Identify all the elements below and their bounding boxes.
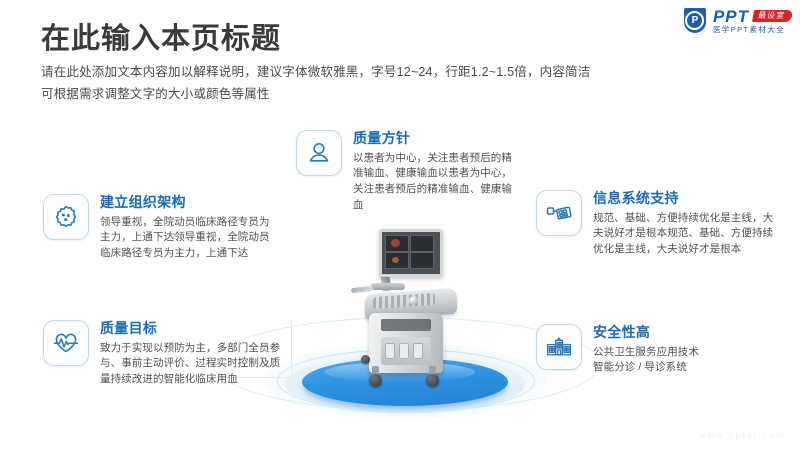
machine-wheel xyxy=(426,374,439,387)
card-text: 领导重视，全院动员临床路径专员为主力，上通下达领导重视，全院动员临床路径专员为主… xyxy=(100,215,275,262)
card-body: 建立组织架构 领导重视，全院动员临床路径专员为主力，上通下达领导重视，全院动员临… xyxy=(100,194,275,262)
machine-slot xyxy=(381,319,431,331)
scan-image-2 xyxy=(410,235,434,252)
card-body: 质量目标 致力于实现以预防为主，多部门全员参与、事前主动评价、过程实时控制及质量… xyxy=(100,320,282,388)
monitor-arm-joint xyxy=(371,283,405,290)
brand-logo: P PPT 最设室 医学PPT素材大全 xyxy=(682,6,792,35)
gear-cells-icon xyxy=(43,194,89,240)
card-title: 建立组织架构 xyxy=(100,194,275,212)
shield-icon: P xyxy=(682,6,708,35)
card-text: 规范、基础、方便持续优化是主线，大夫说好才是根本规范、基础、方便持续优化是主线，… xyxy=(593,211,783,258)
scan-image-4 xyxy=(410,252,434,269)
logo-text-group: PPT 最设室 医学PPT素材大全 xyxy=(713,8,792,34)
page-title: 在此输入本页标题 xyxy=(41,22,281,57)
scan-image-3 xyxy=(385,252,409,269)
logo-badge: 最设室 xyxy=(752,10,793,22)
machine-button xyxy=(399,343,409,359)
monitor-screen xyxy=(379,229,443,277)
shield-letter: P xyxy=(685,11,704,30)
machine-button xyxy=(385,343,395,359)
hospital-building-icon xyxy=(536,324,582,370)
machine-handle xyxy=(351,286,373,293)
ultrasound-machine-icon xyxy=(347,227,467,392)
subtitle-line-2: 可根据需求调整文字的大小或颜色等属性 xyxy=(41,84,681,106)
feature-card-quality-policy[interactable]: 质量方针 以患者为中心，关注患者预后的精准输血、健康输血以患者为中心，关注患者预… xyxy=(296,130,521,214)
machine-wheel xyxy=(369,374,382,387)
logo-primary-row: PPT 最设室 xyxy=(713,8,792,25)
scan-blob xyxy=(392,257,399,263)
person-icon xyxy=(296,130,342,176)
slide-canvas: P PPT 最设室 医学PPT素材大全 在此输入本页标题 请在此处添加文本内容加… xyxy=(0,0,800,450)
card-title: 质量目标 xyxy=(100,320,282,338)
feature-card-information-system[interactable]: 信息系统支持 规范、基础、方便持续优化是主线，大夫说好才是根本规范、基础、方便持… xyxy=(536,190,786,258)
logo-tagline: 医学PPT素材大全 xyxy=(713,26,792,34)
scan-blob xyxy=(391,239,400,247)
card-text: 公共卫生服务应用技术 智能分诊 / 导诊系统 xyxy=(593,345,783,377)
scan-image-1 xyxy=(385,235,409,252)
card-text: 致力于实现以预防为主，多部门全员参与、事前主动评价、过程实时控制及质量持续改进的… xyxy=(100,341,282,388)
center-graphic xyxy=(255,225,555,430)
card-title: 信息系统支持 xyxy=(593,190,783,208)
scanner-device-icon xyxy=(536,190,582,236)
feature-card-organization[interactable]: 建立组织架构 领导重视，全院动员临床路径专员为主力，上通下达领导重视，全院动员临… xyxy=(43,194,275,262)
logo-brand: PPT xyxy=(713,8,749,25)
card-body: 安全性高 公共卫生服务应用技术 智能分诊 / 导诊系统 xyxy=(593,324,783,376)
subtitle-line-1: 请在此处添加文本内容加以解释说明，建议字体微软雅黑，字号12~24，行距1.2~… xyxy=(41,62,681,84)
card-title: 质量方针 xyxy=(353,130,521,148)
machine-wheel xyxy=(361,355,370,364)
page-subtitle: 请在此处添加文本内容加以解释说明，建议字体微软雅黑，字号12~24，行距1.2~… xyxy=(41,62,681,106)
card-text: 以患者为中心，关注患者预后的精准输血、健康输血以患者为中心，关注患者预后的精准输… xyxy=(353,151,521,214)
card-title: 安全性高 xyxy=(593,324,783,342)
watermark: www.ppter.com xyxy=(699,430,786,440)
heart-pulse-icon xyxy=(43,320,89,366)
machine-button xyxy=(413,343,423,359)
card-body: 质量方针 以患者为中心，关注患者预后的精准输血、健康输血以患者为中心，关注患者预… xyxy=(353,130,521,214)
card-body: 信息系统支持 规范、基础、方便持续优化是主线，大夫说好才是根本规范、基础、方便持… xyxy=(593,190,783,258)
feature-card-quality-goal[interactable]: 质量目标 致力于实现以预防为主，多部门全员参与、事前主动评价、过程实时控制及质量… xyxy=(43,320,283,388)
feature-card-safety[interactable]: 安全性高 公共卫生服务应用技术 智能分诊 / 导诊系统 xyxy=(536,324,786,376)
